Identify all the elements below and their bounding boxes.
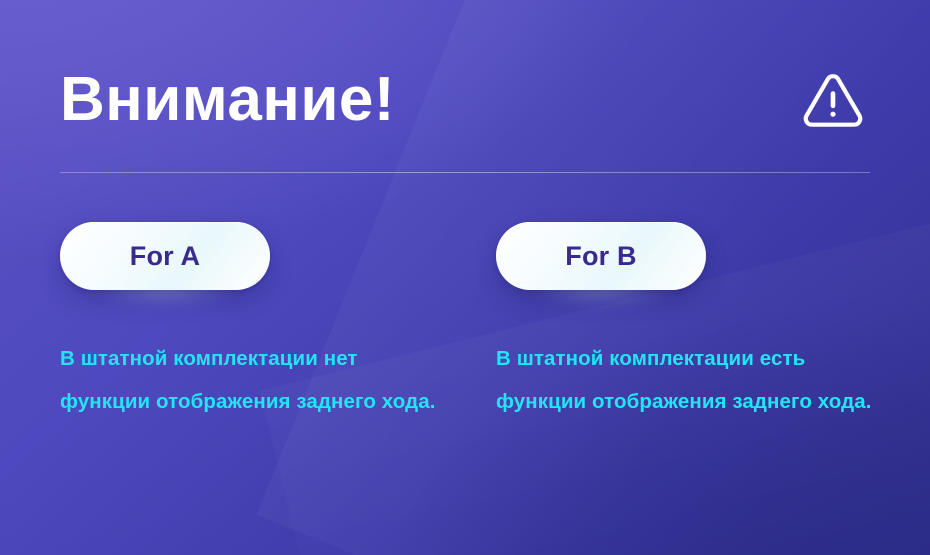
for-b-button[interactable]: For B: [496, 222, 706, 290]
option-a-note: В штатной комплектации нет функции отобр…: [60, 337, 445, 423]
slide-canvas: Внимание! For A В штатной комплектации н…: [0, 0, 930, 555]
option-column-a: For A В штатной комплектации нет функции…: [60, 222, 496, 423]
for-a-button[interactable]: For A: [60, 222, 270, 290]
pill-wrapper-a: For A: [60, 222, 270, 290]
option-column-b: For B В штатной комплектации есть функци…: [496, 222, 890, 423]
warning-triangle-icon: [800, 70, 866, 130]
header: Внимание!: [60, 54, 870, 146]
header-divider: [60, 172, 870, 173]
page-title: Внимание!: [60, 69, 395, 131]
pill-wrapper-b: For B: [496, 222, 706, 290]
options-columns: For A В штатной комплектации нет функции…: [60, 222, 890, 423]
option-b-note: В штатной комплектации есть функции отоб…: [496, 337, 876, 423]
